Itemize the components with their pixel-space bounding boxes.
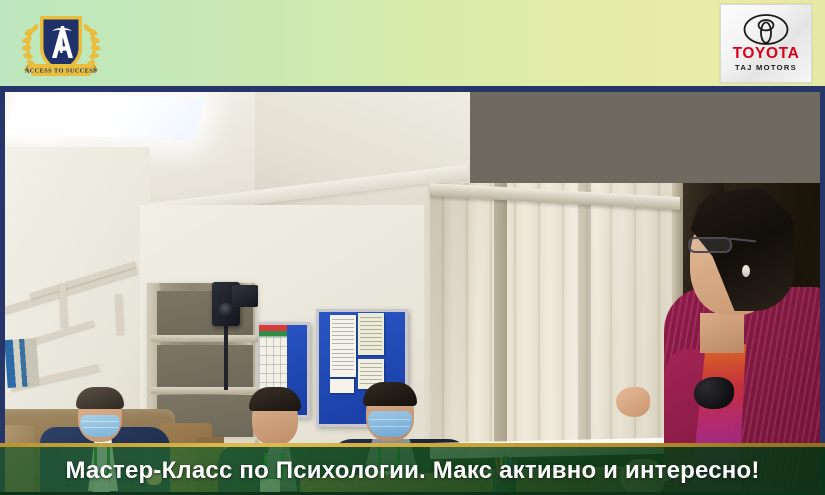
caption-text: Мастер-Класс по Психологии. Макс активно… [65,454,759,485]
pinned-paper [330,379,354,393]
paper-text-lines [332,319,354,345]
toyota-emblem-icon [743,14,789,45]
earring [742,265,750,277]
photo-left-border [0,87,5,495]
shelf-plank [151,335,259,342]
book-stack [4,338,39,388]
header-divider [0,86,825,92]
banner-header: ACCESS TO SUCCESS TOYOTA TAJ MOTORS [0,0,825,87]
caption-gold-rule [0,443,825,447]
svg-text:ACCESS TO SUCCESS: ACCESS TO SUCCESS [25,67,98,74]
mask-pleat [370,419,410,420]
photo-banner: ACCESS TO SUCCESS TOYOTA TAJ MOTORS [0,0,825,495]
surgical-mask [80,415,120,437]
speaker-stand [224,326,228,390]
speaker-cone [219,303,233,317]
hair [249,387,301,411]
toyota-brand-label: TOYOTA [733,46,800,62]
mask-pleat [370,426,410,427]
wall-monitor [232,285,258,307]
photo-right-border [820,87,825,495]
paper-text-lines [360,317,382,351]
classroom-photo [0,87,825,495]
presenter-hand [616,387,650,417]
mask-pleat [82,421,118,422]
hair [76,387,124,409]
hair [363,382,417,406]
shelf-back [157,345,253,391]
surgical-mask [368,411,412,437]
shelf-plank [151,387,259,394]
scarf-brooch [694,377,734,409]
neck [700,313,744,353]
eyeglasses-icon [688,237,732,253]
toyota-taj-motors-logo[interactable]: TOYOTA TAJ MOTORS [720,4,812,83]
mask-pleat [82,427,118,428]
paper-text-lines [332,349,354,373]
caption-band: Мастер-Класс по Психологии. Макс активно… [0,443,825,495]
ceiling-fluorescent-light [5,92,205,141]
academy-shield-logo[interactable]: ACCESS TO SUCCESS [18,4,104,84]
toyota-dealer-label: TAJ MOTORS [735,63,797,73]
photo-scene [0,87,825,495]
